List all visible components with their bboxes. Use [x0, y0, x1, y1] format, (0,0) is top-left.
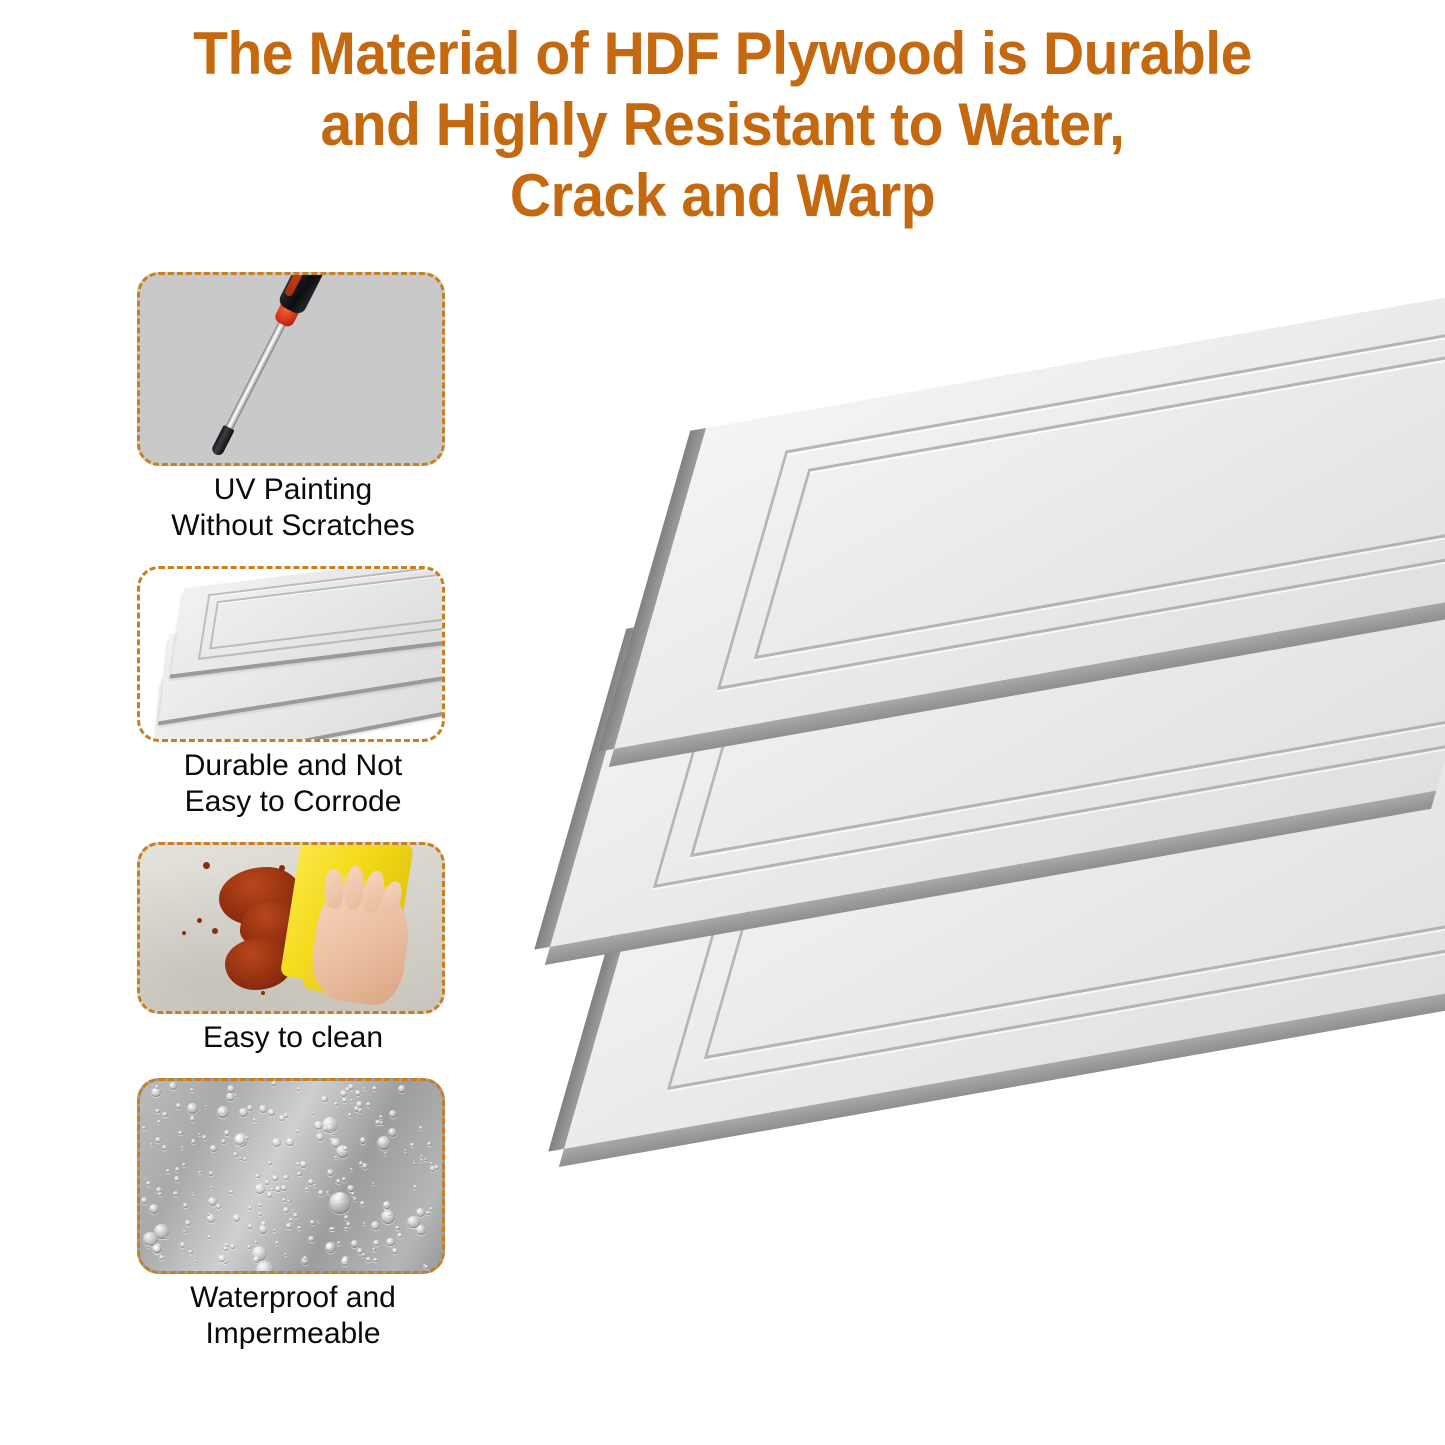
hand-wiping-stain-icon — [140, 845, 442, 1011]
feature-card-easy-to-clean: Easy to clean — [137, 842, 449, 1056]
feature-caption-uv-painting: UV Painting Without Scratches — [137, 472, 449, 544]
feature-thumbnail-uv-painting — [137, 272, 445, 466]
feature-caption-waterproof: Waterproof and Impermeable — [137, 1280, 449, 1352]
title-line-2: and Highly Resistant to Water, — [36, 89, 1409, 160]
title-line-3: Crack and Warp — [36, 160, 1409, 231]
feature-card-uv-painting: UV Painting Without Scratches — [137, 272, 449, 544]
page-title: The Material of HDF Plywood is Durable a… — [36, 18, 1409, 231]
feature-caption-durable: Durable and Not Easy to Corrode — [137, 748, 449, 820]
stacked-panels-icon — [140, 569, 442, 739]
feature-list: UV Painting Without Scratches Durable an… — [137, 272, 449, 1374]
feature-card-durable: Durable and Not Easy to Corrode — [137, 566, 449, 820]
water-droplets-icon — [140, 1081, 442, 1271]
title-line-1: The Material of HDF Plywood is Durable — [36, 18, 1409, 89]
screwdriver-icon — [140, 275, 442, 463]
feature-thumbnail-durable — [137, 566, 445, 742]
hdf-plywood-panel-stack — [620, 430, 1445, 1360]
feature-card-waterproof: Waterproof and Impermeable — [137, 1078, 449, 1352]
feature-thumbnail-waterproof — [137, 1078, 445, 1274]
feature-caption-easy-to-clean: Easy to clean — [137, 1020, 449, 1056]
feature-thumbnail-easy-to-clean — [137, 842, 445, 1014]
